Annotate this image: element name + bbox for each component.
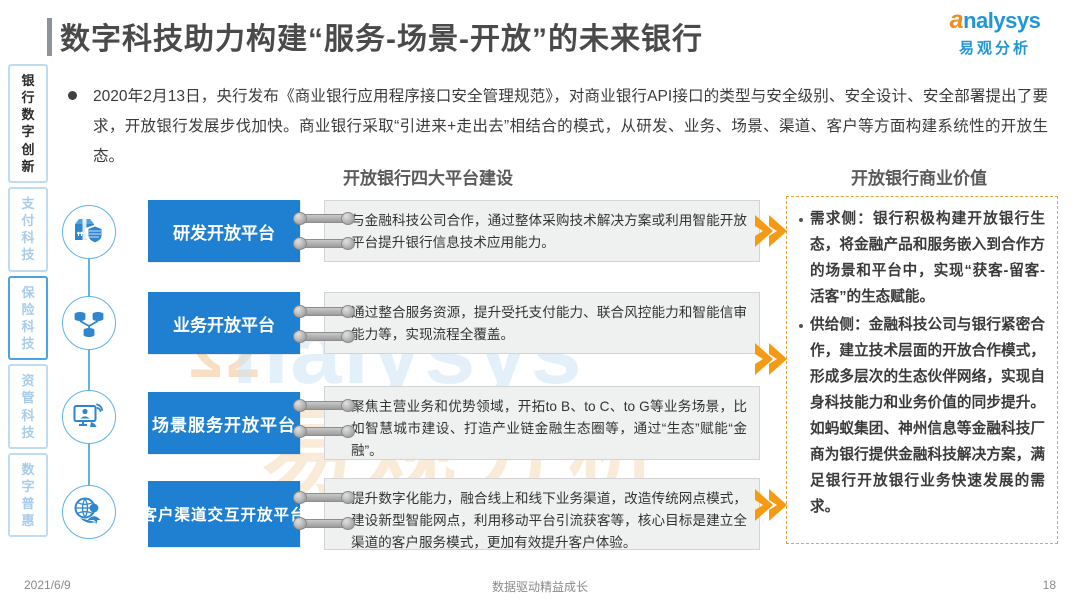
platform-chip-business-open-platform[interactable]: 业务开放平台 — [148, 292, 300, 354]
chevron-right-icon-2 — [753, 340, 793, 385]
platform-connector-1a — [294, 213, 354, 224]
platform-desc-3: 聚焦主营业务和优势领域，开拓to B、to C、to G等业务场景，比如智慧城市… — [324, 386, 760, 460]
screen-user-signal-icon — [62, 390, 116, 444]
platform-chip-customer-channel-open-platform[interactable]: 客户渠道交互开放平台 — [148, 481, 300, 547]
platform-chip-scenario-service-open-platform[interactable]: 场景服务开放平台 — [148, 392, 300, 454]
section-header-business-value: 开放银行商业价值 — [851, 164, 987, 189]
platform-desc-1: 与金融科技公司合作，通过整体采购技术解决方案或利用智能开放平台提升银行信息技术应… — [324, 200, 760, 262]
section-header-platforms: 开放银行四大平台建设 — [343, 164, 513, 189]
platform-desc-4: 提升数字化能力，融合线上和线下业务渠道，改造传统网点模式，建设新型智能网点，利用… — [324, 478, 760, 550]
sidebar-item-label: 支付科技 — [10, 195, 46, 264]
chevron-right-icon-1 — [753, 212, 793, 257]
title-accent-bar — [47, 18, 52, 56]
sidebar-item-asset-management-tech[interactable]: 资管科技 — [8, 364, 48, 449]
platform-connector-4b — [294, 518, 354, 529]
bullet-dot-icon — [68, 91, 77, 100]
logo-chinese-name: 易观分析 — [930, 37, 1060, 58]
value-item-text: 供给侧：金融科技公司与银行紧密合作，建立技术层面的开放合作模式，形成多层次的生态… — [810, 313, 1045, 521]
platform-connector-3b — [294, 426, 354, 437]
business-value-panel: 需求侧：银行积极构建开放银行生态，将金融产品和服务嵌入到合作方的场景和平台中，实… — [786, 196, 1058, 544]
intro-bullet-row: 2020年2月13日，央行发布《商业银行应用程序接口安全管理规范》，对商业银行A… — [68, 82, 1068, 171]
logo-wordmark: analysys — [930, 8, 1060, 33]
platform-connector-2a — [294, 306, 354, 317]
sidebar-item-label: 保险科技 — [10, 284, 46, 353]
value-item-supply-side: 供给侧：金融科技公司与银行紧密合作，建立技术层面的开放合作模式，形成多层次的生态… — [797, 313, 1045, 521]
sidebar-item-label: 资管科技 — [10, 372, 46, 441]
chevron-right-icon-3 — [753, 486, 793, 531]
platform-row-3: 场景服务开放平台 聚焦主营业务和优势领域，开拓to B、to C、to G等业务… — [148, 386, 760, 460]
platform-row-1: 研发开放平台 与金融科技公司合作，通过整体采购技术解决方案或利用智能开放平台提升… — [148, 200, 760, 262]
platform-connector-4a — [294, 492, 354, 503]
footer-page-number: 18 — [1043, 578, 1056, 592]
logo-wordmark-text: nalysys — [963, 8, 1040, 33]
sidebar: 银行数字创新 支付科技 保险科技 资管科技 数字普惠 — [8, 64, 52, 541]
sidebar-item-label: 银行数字创新 — [10, 72, 46, 175]
platform-connector-3a — [294, 400, 354, 411]
page-header: 数字科技助力构建“服务-场景-开放”的未来银行 analysys 易观分析 — [0, 0, 1080, 64]
value-bullet-icon — [799, 324, 803, 328]
platform-desc-2: 通过整合服务资源，提升受托支付能力、联合风控能力和智能信审能力等，实现流程全覆盖… — [324, 292, 760, 354]
platform-chip-rd-open-platform[interactable]: 研发开放平台 — [148, 200, 300, 262]
platform-connector-1b — [294, 238, 354, 249]
package-shield-icon — [62, 205, 116, 259]
value-item-demand-side: 需求侧：银行积极构建开放银行生态，将金融产品和服务嵌入到合作方的场景和平台中，实… — [797, 207, 1045, 311]
value-bullet-icon — [799, 218, 803, 222]
database-network-icon — [62, 296, 116, 350]
page-title: 数字科技助力构建“服务-场景-开放”的未来银行 — [60, 14, 703, 58]
platform-connector-2b — [294, 331, 354, 342]
globe-user-icon — [62, 485, 116, 539]
platform-row-4: 客户渠道交互开放平台 提升数字化能力，融合线上和线下业务渠道，改造传统网点模式，… — [148, 478, 760, 550]
sidebar-item-insurance-tech[interactable]: 保险科技 — [8, 276, 48, 361]
intro-paragraph: 2020年2月13日，央行发布《商业银行应用程序接口安全管理规范》，对商业银行A… — [93, 82, 1048, 171]
page-footer: 2021/6/9 数据驱动精益成长 18 — [0, 578, 1080, 598]
sidebar-item-payment-tech[interactable]: 支付科技 — [8, 187, 48, 272]
timeline-spine — [88, 232, 90, 522]
footer-slogan: 数据驱动精益成长 — [0, 578, 1080, 595]
analysys-logo: analysys 易观分析 — [930, 8, 1060, 58]
sidebar-item-label: 数字普惠 — [10, 461, 46, 530]
sidebar-item-digital-inclusive-finance[interactable]: 数字普惠 — [8, 453, 48, 538]
logo-a-icon: a — [950, 6, 963, 34]
value-item-text: 需求侧：银行积极构建开放银行生态，将金融产品和服务嵌入到合作方的场景和平台中，实… — [810, 207, 1045, 311]
sidebar-item-bank-digital-innovation[interactable]: 银行数字创新 — [8, 64, 48, 183]
platform-row-2: 业务开放平台 通过整合服务资源，提升受托支付能力、联合风控能力和智能信审能力等，… — [148, 292, 760, 354]
